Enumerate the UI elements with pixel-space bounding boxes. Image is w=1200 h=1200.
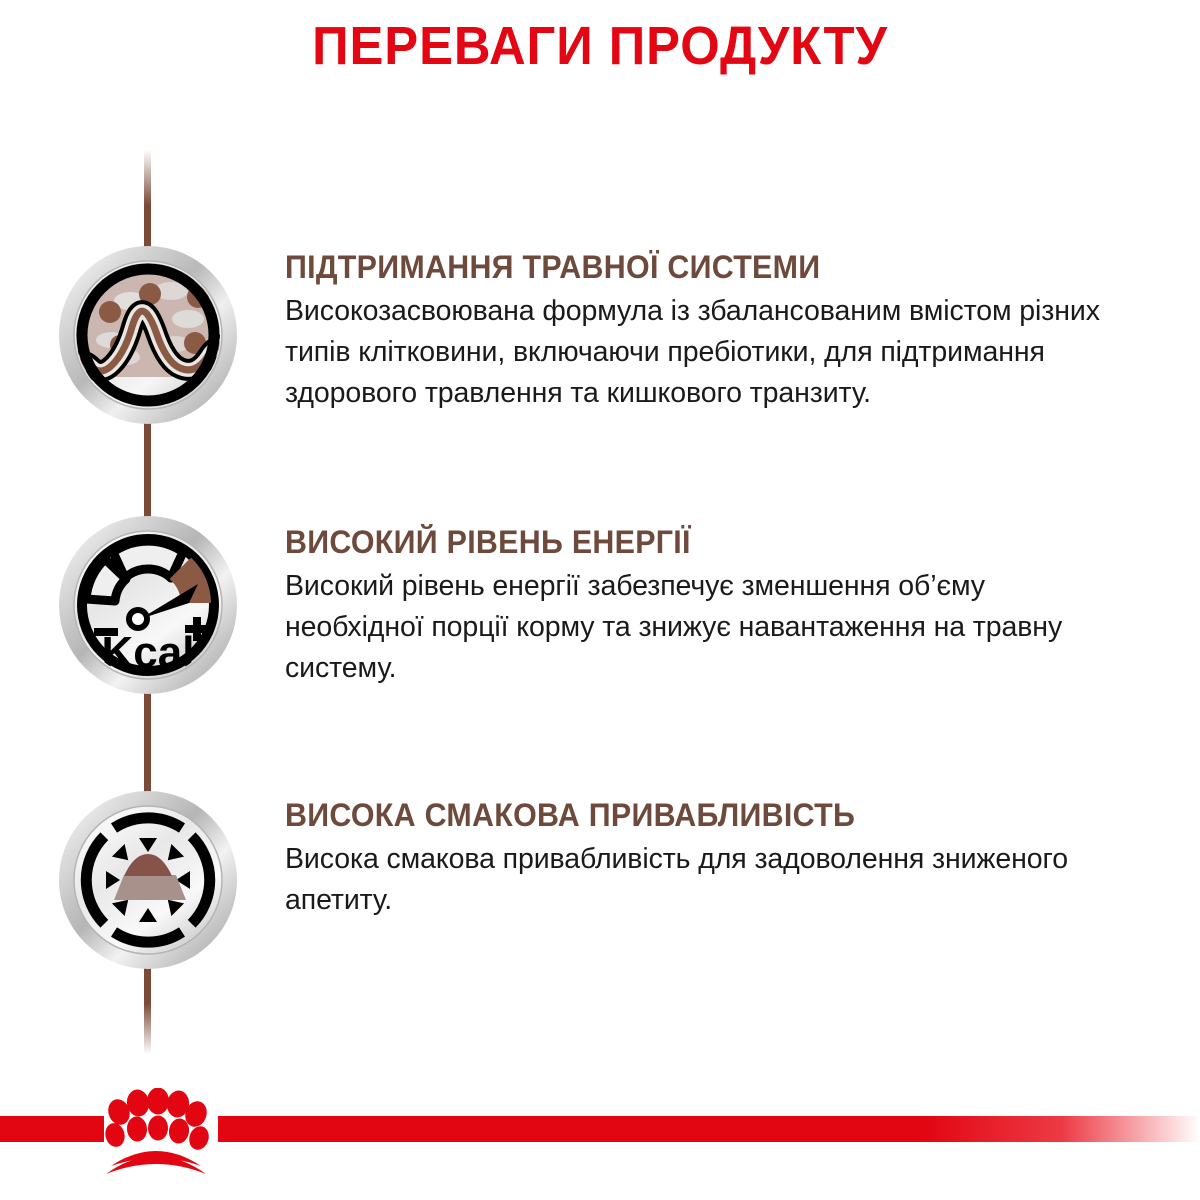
food-bowl-arrows-icon xyxy=(58,790,238,970)
product-benefits-page: ПЕРЕВАГИ ПРОДУКТУ xyxy=(0,0,1200,1200)
benefit-text-energy: ВИСОКИЙ РІВЕНЬ ЕНЕРГІЇ Високий рівень ен… xyxy=(285,525,1130,689)
benefit-body: Висока смакова привабливість для задовол… xyxy=(285,839,1130,921)
benefit-text-digestive: ПІДТРИМАННЯ ТРАВНОЇ СИСТЕМИ Високозасвою… xyxy=(285,250,1130,414)
kcal-gauge-icon: Kcal xyxy=(58,515,238,695)
connector-line-bottom xyxy=(144,962,151,1054)
connector-line-middle-2 xyxy=(144,690,151,798)
page-title: ПЕРЕВАГИ ПРОДУКТУ xyxy=(36,18,1164,75)
connector-line-middle-1 xyxy=(144,418,151,526)
benefit-body: Високозасвоювана формула із збалансовани… xyxy=(285,291,1130,414)
benefit-heading: ВИСОКА СМАКОВА ПРИВАБЛИВІСТЬ xyxy=(285,798,1088,833)
digestive-system-icon xyxy=(58,245,238,425)
footer-bar-right xyxy=(218,1116,1200,1142)
royal-canin-crown-paw-logo xyxy=(86,1088,216,1176)
connector-line-top xyxy=(144,150,151,250)
benefit-body: Високий рівень енергії забезпечує зменше… xyxy=(285,566,1130,689)
benefit-heading: ВИСОКИЙ РІВЕНЬ ЕНЕРГІЇ xyxy=(285,525,1088,560)
benefit-heading: ПІДТРИМАННЯ ТРАВНОЇ СИСТЕМИ xyxy=(285,250,1088,285)
benefit-text-palatability: ВИСОКА СМАКОВА ПРИВАБЛИВІСТЬ Висока смак… xyxy=(285,798,1130,921)
footer xyxy=(0,1088,1200,1200)
